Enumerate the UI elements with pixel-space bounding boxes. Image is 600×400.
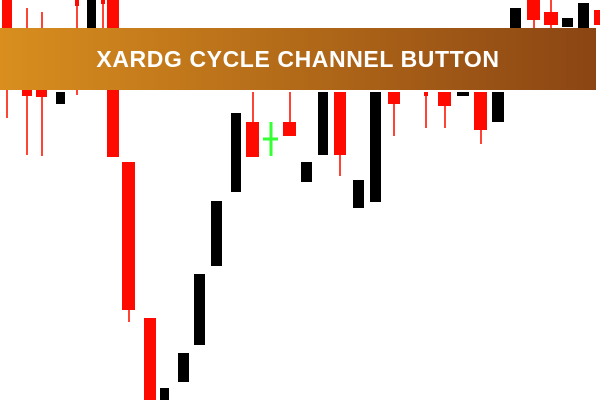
candle-body	[492, 92, 504, 122]
candle-body	[388, 92, 400, 104]
candle-body	[510, 8, 521, 28]
candle-body	[231, 113, 241, 192]
candle-body	[457, 92, 469, 96]
candle-wick	[425, 92, 427, 128]
candle-body	[424, 92, 428, 96]
candle-body	[562, 18, 573, 27]
candle-body	[474, 92, 487, 130]
candle-body	[334, 92, 346, 155]
candle-body	[594, 10, 600, 25]
candle-body	[283, 122, 296, 136]
candle-body	[75, 0, 79, 6]
candle-body	[370, 92, 381, 202]
candle-body	[194, 274, 205, 345]
candle-body	[101, 0, 105, 4]
candle-body	[122, 162, 135, 310]
candle-body	[527, 0, 540, 20]
candle-body	[246, 122, 259, 157]
candle-body	[544, 12, 558, 25]
candle-body	[578, 3, 589, 28]
candle-body	[353, 180, 364, 208]
candle-body	[211, 201, 222, 266]
candle-body	[178, 353, 189, 382]
candle-body	[438, 92, 451, 106]
candle-body	[144, 318, 156, 400]
screenshot-root: XARDG CYCLE CHANNEL BUTTON	[0, 0, 600, 400]
candle-body	[160, 388, 169, 400]
candle-body	[87, 0, 96, 28]
candle-body	[318, 92, 328, 155]
cycle-channel-banner[interactable]: XARDG CYCLE CHANNEL BUTTON	[0, 28, 596, 90]
candle-body	[301, 162, 312, 182]
candle-wick	[102, 0, 104, 28]
candle-body	[56, 92, 65, 104]
banner-title: XARDG CYCLE CHANNEL BUTTON	[96, 46, 499, 73]
candle-body	[2, 0, 12, 30]
cross-horizontal	[263, 138, 278, 141]
candle-highlight-cross-icon	[263, 122, 278, 156]
